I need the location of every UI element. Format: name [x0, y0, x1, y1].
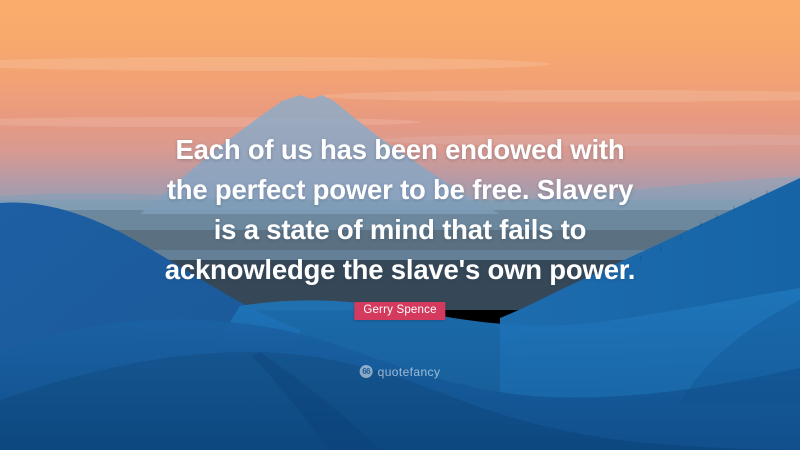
quote-line-3: is a state of mind that fails to — [0, 210, 800, 250]
overlay-content: Each of us has been endowed with the per… — [0, 0, 800, 450]
quote-image: Each of us has been endowed with the per… — [0, 0, 800, 450]
watermark-brand: quotefancy — [378, 366, 441, 378]
quote-line-4: acknowledge the slave's own power. — [0, 250, 800, 290]
quote-text: Each of us has been endowed with the per… — [0, 130, 800, 290]
quote-line-1: Each of us has been endowed with — [0, 130, 800, 170]
quote-line-2: the perfect power to be free. Slavery — [0, 170, 800, 210]
author-badge[interactable]: Gerry Spence — [354, 302, 445, 320]
quote-marks-icon: 66 — [360, 365, 373, 378]
watermark[interactable]: 66 quotefancy — [360, 365, 441, 378]
